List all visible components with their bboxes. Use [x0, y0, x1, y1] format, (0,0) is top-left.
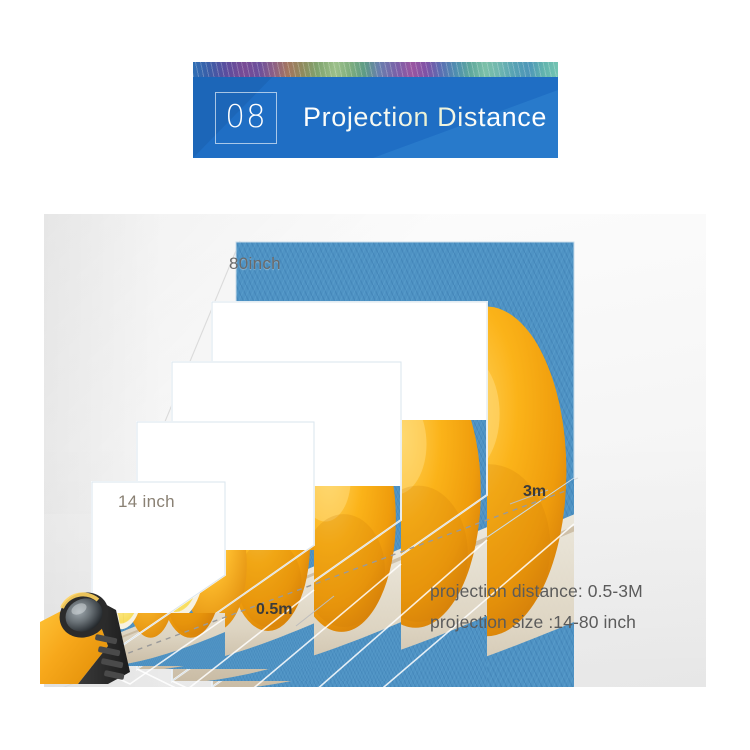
section-number-box: 08	[215, 92, 277, 144]
section-number: 08	[225, 102, 266, 133]
section-title: Projection Distance	[303, 102, 547, 133]
banner-content: 08 Projection Distance	[193, 77, 558, 158]
section-banner: 08 Projection Distance	[193, 62, 558, 158]
caption-projection-size: projection size :14-80 inch	[430, 607, 710, 638]
spec-caption: projection distance: 0.5-3M projection s…	[430, 576, 710, 638]
decorative-gradient-strip-icon	[193, 62, 558, 77]
screen-size-label-80inch: 80inch	[229, 254, 281, 274]
distance-label-far: 3m	[523, 483, 546, 501]
caption-projection-distance: projection distance: 0.5-3M	[430, 576, 710, 607]
portable-projector	[38, 588, 148, 688]
distance-label-near: 0.5m	[256, 601, 292, 619]
page-root: 08 Projection Distance	[0, 0, 750, 750]
screen-size-label-14inch: 14 inch	[118, 492, 175, 512]
